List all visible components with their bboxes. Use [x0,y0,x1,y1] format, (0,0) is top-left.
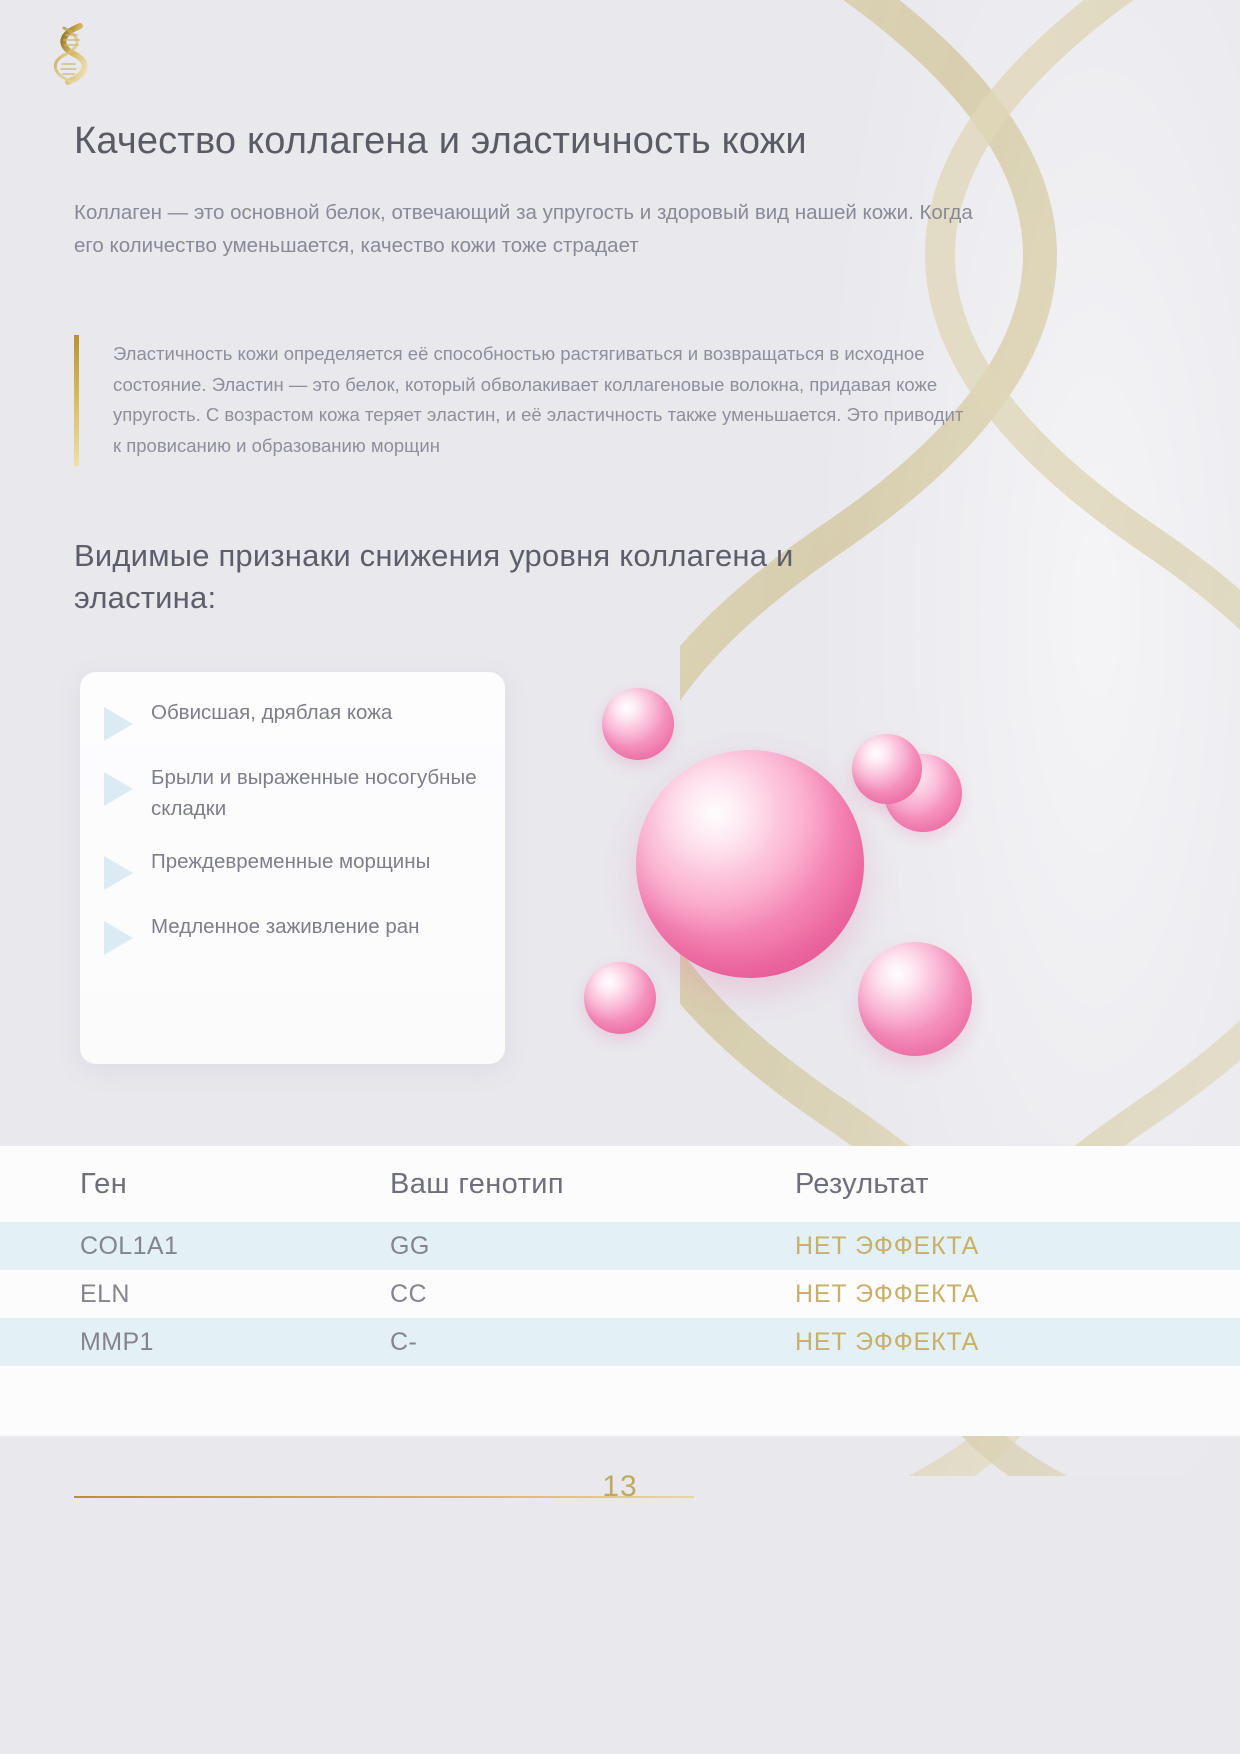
cell-result: НЕТ ЭФФЕКТА [795,1328,1240,1357]
cell-result: НЕТ ЭФФЕКТА [795,1232,1240,1261]
list-item-label: Медленное заживление ран [151,912,419,943]
list-item: Преждевременные морщины [104,847,487,890]
table-row: COL1A1 GG НЕТ ЭФФЕКТА [0,1222,1240,1270]
bubble-main [636,750,864,978]
list-item-label: Обвисшая, дряблая кожа [151,698,392,729]
list-item: Брыли и выраженные носогубные складки [104,763,487,825]
quote-text: Эластичность кожи определяется её способ… [113,339,973,462]
page-number: 13 [0,1470,1240,1504]
triangle-right-icon [104,772,133,806]
pink-serum-bubbles-illustration [540,650,1100,1110]
dna-helix-icon [44,22,104,86]
table-row: MMP1 C- НЕТ ЭФФЕКТА [0,1318,1240,1366]
list-item-label: Брыли и выраженные носогубные складки [151,763,487,825]
triangle-right-icon [104,856,133,890]
triangle-right-icon [104,921,133,955]
list-item: Медленное заживление ран [104,912,487,955]
triangle-right-icon [104,707,133,741]
cell-genotype: CC [390,1280,795,1309]
list-item: Обвисшая, дряблая кожа [104,698,487,741]
column-header-result: Результат [795,1168,1240,1201]
bubble-small-top-left [602,688,674,760]
bubble-small-top-right-front [852,734,922,804]
bubble-bottom-right [858,942,972,1056]
cell-gene: ELN [80,1280,390,1309]
page-content: Качество коллагена и эластичность кожи К… [0,0,1240,1754]
cell-gene: COL1A1 [80,1232,390,1261]
column-header-gene: Ген [80,1168,390,1201]
symptoms-card: Обвисшая, дряблая кожа Брыли и выраженны… [80,672,505,1064]
bubble-bottom-left [584,962,656,1034]
page-footer [0,1476,1240,1754]
column-header-genotype: Ваш генотип [390,1168,795,1201]
table-header-row: Ген Ваш генотип Результат [0,1146,1240,1222]
list-item-label: Преждевременные морщины [151,847,430,878]
intro-paragraph: Коллаген — это основной белок, отвечающи… [74,196,974,262]
symptoms-list: Обвисшая, дряблая кожа Брыли и выраженны… [104,698,487,955]
section-heading: Видимые признаки снижения уровня коллаге… [74,535,874,618]
table-row: ELN CC НЕТ ЭФФЕКТА [0,1270,1240,1318]
cell-gene: MMP1 [80,1328,390,1357]
cell-result: НЕТ ЭФФЕКТА [795,1280,1240,1309]
page-title: Качество коллагена и эластичность кожи [74,118,1014,166]
cell-genotype: C- [390,1328,795,1357]
cell-genotype: GG [390,1232,795,1261]
quote-block: Эластичность кожи определяется её способ… [74,335,973,466]
results-table: Ген Ваш генотип Результат COL1A1 GG НЕТ … [0,1146,1240,1436]
